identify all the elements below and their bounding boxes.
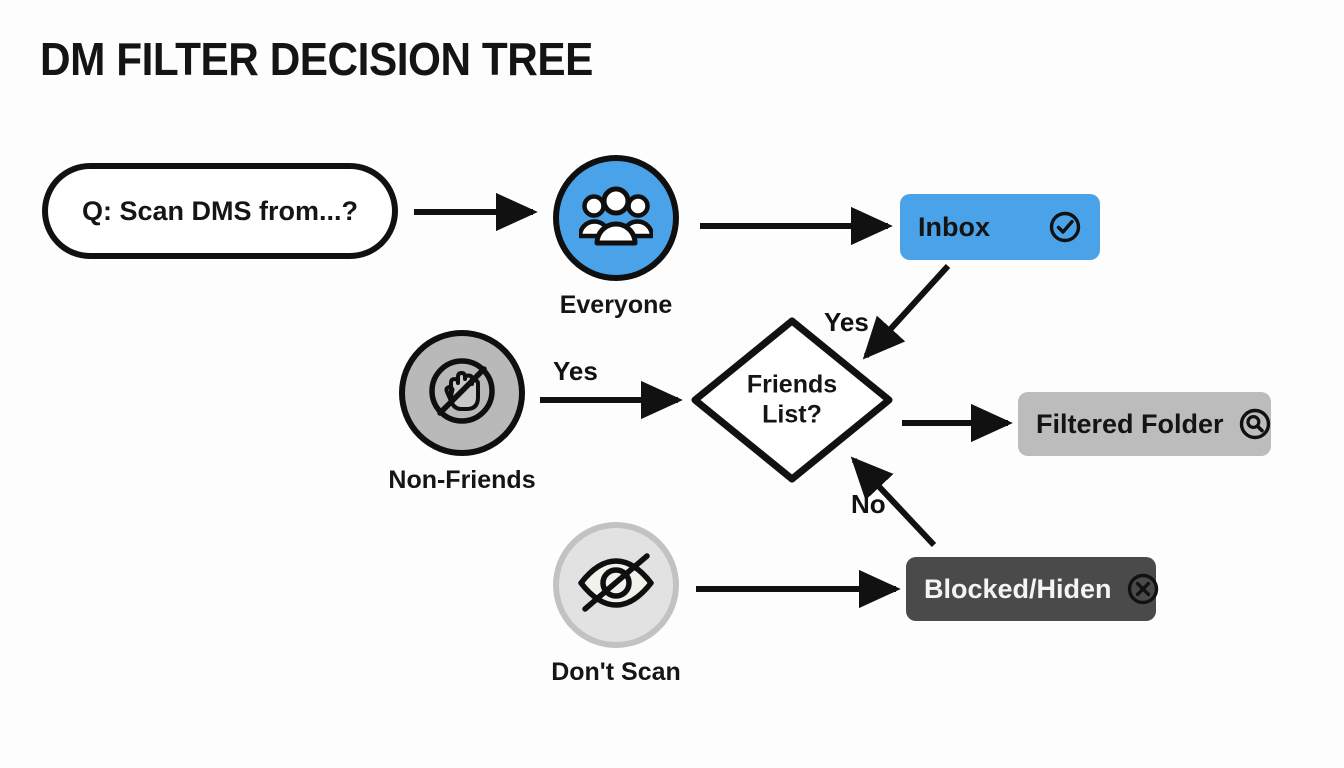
inbox-label: Inbox <box>918 212 1034 243</box>
filtered-folder-label: Filtered Folder <box>1036 409 1224 440</box>
dont-scan-caption: Don't Scan <box>551 658 681 687</box>
dont-scan-circle <box>553 522 679 648</box>
eye-slash-icon <box>573 547 659 624</box>
everyone-circle <box>553 155 679 281</box>
page-title: DM FILTER DECISION TREE <box>40 32 593 86</box>
search-circle-icon <box>1238 407 1272 441</box>
non-friends-caption: Non-Friends <box>388 466 535 495</box>
start-node[interactable]: Q: Scan DMS from...? <box>42 163 398 259</box>
node-non-friends[interactable]: Non-Friends <box>392 330 532 495</box>
chip-blocked-hidden[interactable]: Blocked/Hiden <box>906 557 1156 621</box>
start-node-label: Q: Scan DMS from...? <box>82 196 358 227</box>
hand-stop-blocked-icon <box>422 351 502 436</box>
node-dont-scan[interactable]: Don't Scan <box>548 522 684 687</box>
decision-line-2: List? <box>686 400 898 430</box>
chip-inbox[interactable]: Inbox <box>900 194 1100 260</box>
everyone-caption: Everyone <box>560 291 673 320</box>
node-everyone[interactable]: Everyone <box>548 155 684 320</box>
non-friends-circle <box>399 330 525 456</box>
edge-label-nonfriends-to-decision: Yes <box>553 356 598 387</box>
x-circle-icon <box>1126 572 1160 606</box>
chip-filtered-folder[interactable]: Filtered Folder <box>1018 392 1271 456</box>
blocked-hidden-label: Blocked/Hiden <box>924 574 1112 605</box>
edge-label-blocked-to-decision: No <box>851 489 886 520</box>
people-group-icon <box>579 186 653 251</box>
diagram-canvas: DM FILTER DECISION TREE Yes Yes No Q: Sc… <box>0 0 1344 768</box>
node-decision-friends-list[interactable]: Friends List? <box>686 312 898 488</box>
decision-text: Friends List? <box>686 371 898 430</box>
check-circle-icon <box>1048 210 1082 244</box>
decision-line-1: Friends <box>686 371 898 401</box>
